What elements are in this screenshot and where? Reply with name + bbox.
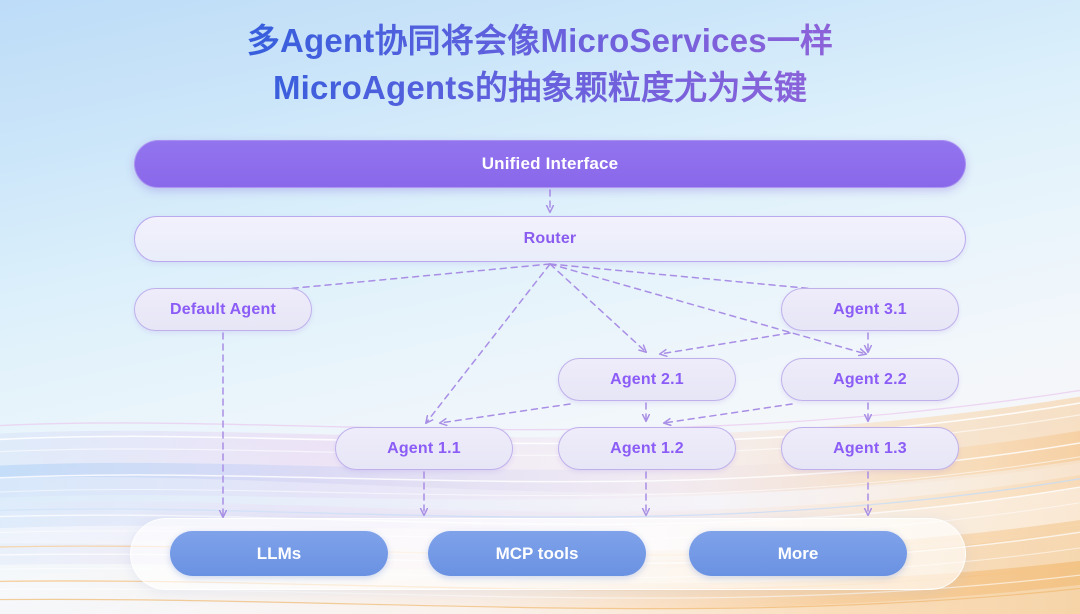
resource-label: MCP tools <box>496 544 579 564</box>
node-label: Default Agent <box>170 301 276 319</box>
resource-label: LLMs <box>257 544 301 564</box>
node-label: Agent 1.2 <box>610 440 684 458</box>
edge-agent22-to-agent12 <box>664 404 792 423</box>
node-label: Agent 1.3 <box>833 440 907 458</box>
node-agent-3-1[interactable]: Agent 3.1 <box>781 288 959 331</box>
resource-label: More <box>778 544 819 564</box>
resource-pill-more[interactable]: More <box>689 531 907 576</box>
node-label: Agent 1.1 <box>387 440 461 458</box>
node-unified-interface[interactable]: Unified Interface <box>134 140 966 188</box>
edge-agent21-to-agent11 <box>440 404 570 423</box>
node-label: Agent 2.1 <box>610 371 684 389</box>
node-agent-1-2[interactable]: Agent 1.2 <box>558 427 736 470</box>
node-label: Agent 2.2 <box>833 371 907 389</box>
architecture-diagram: Unified Interface Router Default Agent A… <box>0 0 1080 614</box>
node-label: Agent 3.1 <box>833 301 907 319</box>
resource-pill-mcp-tools[interactable]: MCP tools <box>428 531 646 576</box>
node-agent-2-1[interactable]: Agent 2.1 <box>558 358 736 401</box>
slide-canvas: 多Agent协同将会像MicroServices一样 MicroAgents的抽… <box>0 0 1080 614</box>
edge-router-to-agent11 <box>426 264 550 423</box>
node-label: Router <box>524 230 577 248</box>
edge-agent31-to-agent21 <box>660 333 790 354</box>
node-router[interactable]: Router <box>134 216 966 262</box>
node-agent-1-3[interactable]: Agent 1.3 <box>781 427 959 470</box>
node-agent-1-1[interactable]: Agent 1.1 <box>335 427 513 470</box>
node-default-agent[interactable]: Default Agent <box>134 288 312 331</box>
resource-pill-llms[interactable]: LLMs <box>170 531 388 576</box>
node-label: Unified Interface <box>482 154 619 174</box>
node-agent-2-2[interactable]: Agent 2.2 <box>781 358 959 401</box>
